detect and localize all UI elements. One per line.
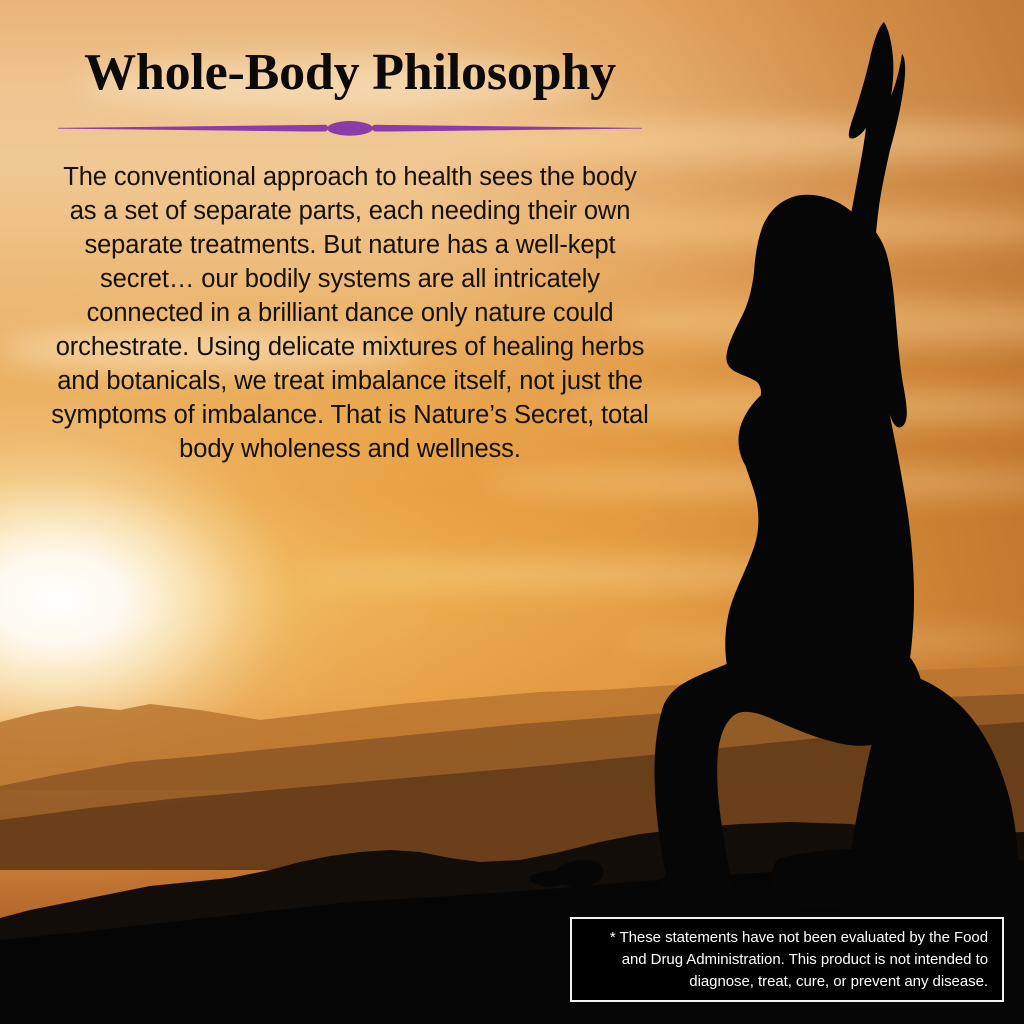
body-paragraph: The conventional approach to health sees… (50, 160, 650, 466)
divider-bar-left (58, 125, 328, 132)
poster-canvas: Whole-Body Philosophy The conventional a… (0, 0, 1024, 1024)
divider-lens-icon (327, 121, 373, 136)
page-title: Whole-Body Philosophy (0, 44, 700, 102)
divider-dot-right (357, 125, 364, 132)
text-panel: Whole-Body Philosophy The conventional a… (0, 44, 700, 466)
divider-bar-right (372, 125, 642, 132)
disclaimer-text: * These statements have not been evaluat… (572, 923, 1002, 997)
divider-ornament (58, 120, 642, 136)
disclaimer-box: * These statements have not been evaluat… (570, 917, 1004, 1002)
